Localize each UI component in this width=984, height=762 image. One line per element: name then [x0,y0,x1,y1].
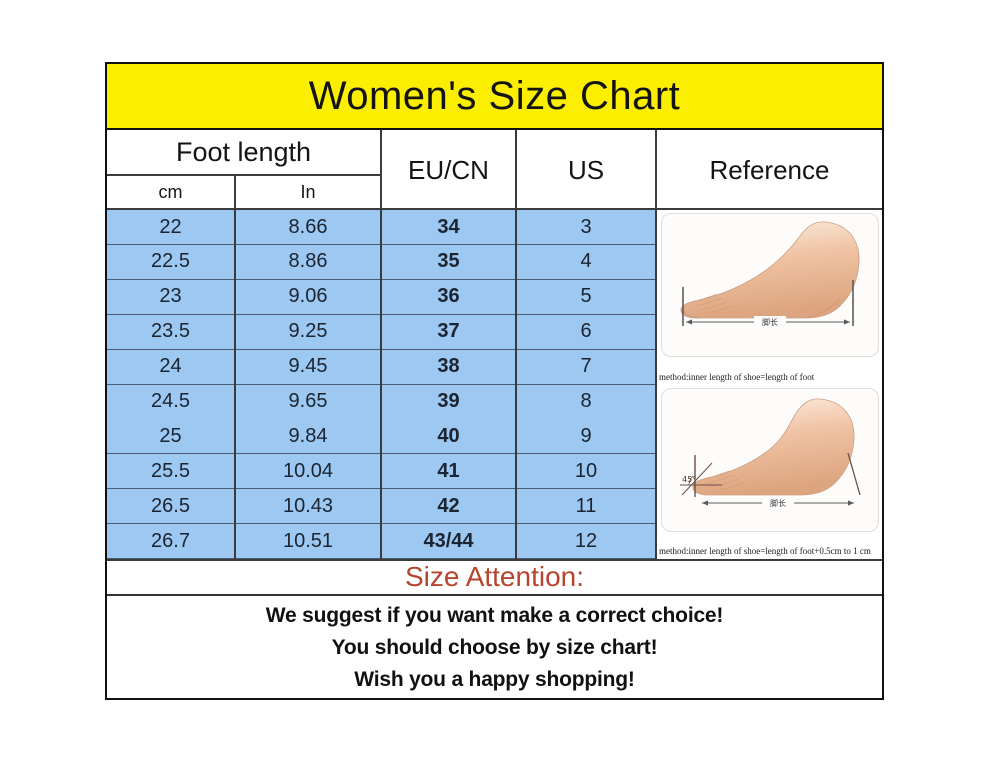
column-header-cm: cm [107,175,234,210]
foot-side-view-angle-measure-icon: 45° 脚长 [661,388,879,532]
divider-us-reference [655,130,657,210]
cell-eu: 40 [382,419,515,453]
cell-in: 9.84 [236,419,380,453]
cell-eu: 42 [382,489,515,523]
cell-us: 10 [517,454,655,488]
measure-label-2: 脚长 [770,498,786,508]
attention-line: We suggest if you want make a correct ch… [266,601,723,631]
size-attention-section: Size Attention: We suggest if you want m… [107,559,882,698]
angle-label: 45° [682,475,696,484]
table-row: 23.59.25376 [107,315,657,350]
cell-in: 8.86 [236,245,380,279]
size-chart-table: Women's Size Chart Foot length cm In EU/… [105,62,884,700]
cell-eu: 36 [382,280,515,314]
table-body: 228.6634322.58.86354239.0636523.59.25376… [107,210,882,559]
reference-column: 脚长 method:inner length of shoe=length of… [657,210,882,559]
reference-item-2: 45° 脚长 method:inner length of shoe=lengt… [657,385,882,559]
cell-us: 7 [517,350,655,384]
cell-eu: 38 [382,350,515,384]
cell-eu: 37 [382,315,515,349]
divider-footlength-eu [380,130,382,210]
cell-in: 8.66 [236,210,380,244]
cell-eu: 34 [382,210,515,244]
attention-line: You should choose by size chart! [332,633,658,663]
table-row: 249.45387 [107,350,657,385]
body-divider-footlength-eu [380,210,382,559]
table-row: 22.58.86354 [107,245,657,280]
cell-cm: 24 [107,350,234,384]
table-row: 25.510.044110 [107,454,657,489]
reference-caption-2: method:inner length of shoe=length of fo… [659,545,880,557]
table-row: 228.66343 [107,210,657,245]
table-row: 239.06365 [107,280,657,315]
cell-eu: 43/44 [382,524,515,558]
column-header-eu-cn: EU/CN [382,130,515,210]
cell-eu: 35 [382,245,515,279]
cell-in: 9.65 [236,385,380,419]
table-row: 26.710.5143/4412 [107,524,657,559]
attention-heading: Size Attention: [107,559,882,596]
cell-us: 3 [517,210,655,244]
foot-diagram-svg: 脚长 [662,214,878,356]
cell-in: 9.45 [236,350,380,384]
divider-cm-in [234,175,236,210]
table-header-row: Foot length cm In EU/CN US Reference [107,130,882,210]
page-title: Women's Size Chart [309,76,681,116]
divider-eu-us [515,130,517,210]
column-header-reference: Reference [657,130,882,210]
cell-cm: 23.5 [107,315,234,349]
cell-eu: 39 [382,385,515,419]
body-divider-cm-in [234,210,236,559]
body-divider-eu-us [515,210,517,559]
cell-in: 10.04 [236,454,380,488]
cell-cm: 23 [107,280,234,314]
size-chart-page: Women's Size Chart Foot length cm In EU/… [0,0,984,762]
cell-us: 11 [517,489,655,523]
cell-cm: 26.5 [107,489,234,523]
cell-in: 9.06 [236,280,380,314]
cell-us: 12 [517,524,655,558]
cell-cm: 25.5 [107,454,234,488]
reference-caption-1: method:inner length of shoe=length of fo… [659,371,880,383]
cell-us: 9 [517,419,655,453]
cell-us: 4 [517,245,655,279]
column-header-foot-length: Foot length [107,130,380,174]
cell-cm: 26.7 [107,524,234,558]
chart-title-banner: Women's Size Chart [107,64,882,130]
cell-us: 5 [517,280,655,314]
table-row: 259.84409 [107,419,657,454]
column-header-us: US [517,130,655,210]
measure-label-1: 脚长 [762,317,778,327]
table-row: 24.59.65398 [107,385,657,420]
column-header-in: In [236,175,380,210]
attention-lines: We suggest if you want make a correct ch… [107,598,882,698]
cell-in: 9.25 [236,315,380,349]
table-row: 26.510.434211 [107,489,657,524]
cell-eu: 41 [382,454,515,488]
cell-us: 6 [517,315,655,349]
reference-item-1: 脚长 method:inner length of shoe=length of… [657,210,882,385]
cell-in: 10.51 [236,524,380,558]
cell-cm: 22 [107,210,234,244]
attention-line: Wish you a happy shopping! [354,665,634,695]
cell-cm: 24.5 [107,385,234,419]
cell-cm: 22.5 [107,245,234,279]
foot-angle-diagram-svg: 45° 脚长 [662,389,878,531]
foot-side-view-measure-icon: 脚长 [661,213,879,357]
cell-cm: 25 [107,419,234,453]
cell-us: 8 [517,385,655,419]
cell-in: 10.43 [236,489,380,523]
